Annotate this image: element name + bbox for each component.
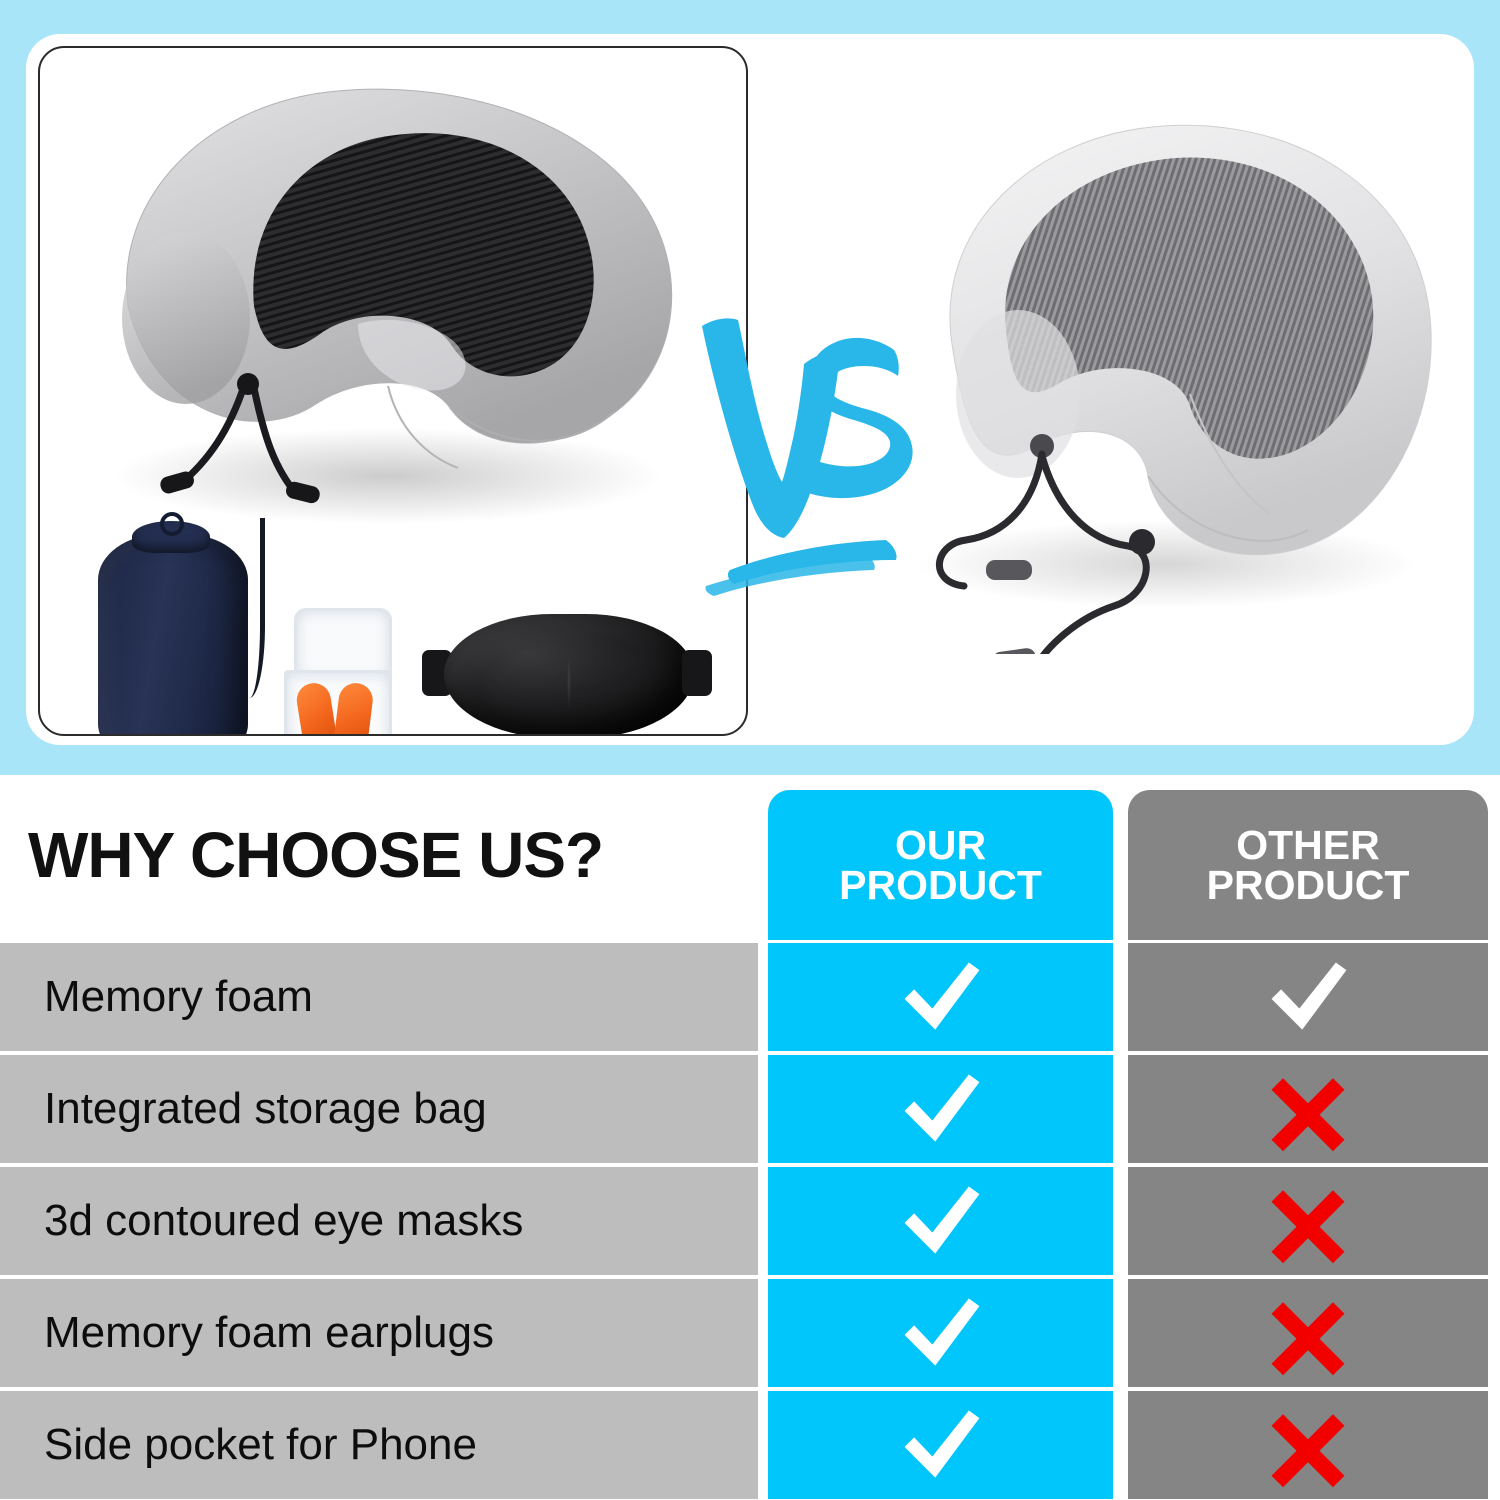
check-icon (893, 1397, 989, 1493)
other-product-cell (1128, 1279, 1488, 1387)
check-icon (893, 1061, 989, 1157)
other-product-cell (1128, 1167, 1488, 1275)
check-icon (893, 1285, 989, 1381)
column-header-our-product: OURPRODUCT (768, 790, 1113, 940)
feature-label: Memory foam (44, 972, 313, 1022)
earplugs-case-base (284, 670, 392, 736)
feature-label-cell: Integrated storage bag (0, 1055, 758, 1163)
our-product-cell (768, 1279, 1113, 1387)
cross-icon (1260, 1285, 1356, 1381)
feature-label: Memory foam earplugs (44, 1308, 494, 1358)
earplugs-case-image (280, 608, 390, 736)
eye-mask-image (422, 614, 712, 736)
earplug (294, 681, 337, 736)
column-header-other-product: OTHERPRODUCT (1128, 790, 1488, 940)
page-title: WHY CHOOSE US? (28, 823, 748, 887)
our-travel-pillow-image (58, 56, 718, 526)
feature-label-cell: Memory foam earplugs (0, 1279, 758, 1387)
eye-mask-body (444, 614, 694, 736)
our-product-cell (768, 1391, 1113, 1499)
cross-icon (1260, 1061, 1356, 1157)
hero-panel (0, 0, 1500, 775)
other-travel-pillow-image (856, 94, 1466, 654)
storage-bag-cord (226, 518, 265, 698)
check-icon (1260, 949, 1356, 1045)
eye-mask-strap-right (682, 650, 712, 696)
feature-label: Side pocket for Phone (44, 1420, 477, 1470)
cross-icon (1260, 1397, 1356, 1493)
cross-icon (1260, 1173, 1356, 1269)
feature-label: 3d contoured eye masks (44, 1196, 523, 1246)
table-row: Memory foam (0, 943, 1500, 1051)
feature-label: Integrated storage bag (44, 1084, 487, 1134)
table-row: Integrated storage bag (0, 1055, 1500, 1163)
feature-label-cell: Side pocket for Phone (0, 1391, 758, 1499)
product-photo-frame (38, 46, 748, 736)
check-icon (893, 1173, 989, 1269)
comparison-header-row: WHY CHOOSE US? OURPRODUCT OTHERPRODUCT (0, 775, 1500, 940)
hero-card (26, 34, 1474, 745)
table-row: 3d contoured eye masks (0, 1167, 1500, 1275)
feature-label-cell: Memory foam (0, 943, 758, 1051)
feature-label-cell: 3d contoured eye masks (0, 1167, 758, 1275)
our-product-cell (768, 1167, 1113, 1275)
our-product-cell (768, 1055, 1113, 1163)
column-header-our-product-label: OURPRODUCT (839, 825, 1042, 905)
earplug (333, 681, 374, 736)
our-product-cell (768, 943, 1113, 1051)
comparison-table: WHY CHOOSE US? OURPRODUCT OTHERPRODUCT M… (0, 775, 1500, 1500)
other-product-cell (1128, 1055, 1488, 1163)
check-icon (893, 949, 989, 1045)
table-row: Memory foam earplugs (0, 1279, 1500, 1387)
column-header-other-product-label: OTHERPRODUCT (1207, 825, 1410, 905)
table-row: Side pocket for Phone (0, 1391, 1500, 1499)
other-product-cell (1128, 1391, 1488, 1499)
other-product-cell (1128, 943, 1488, 1051)
